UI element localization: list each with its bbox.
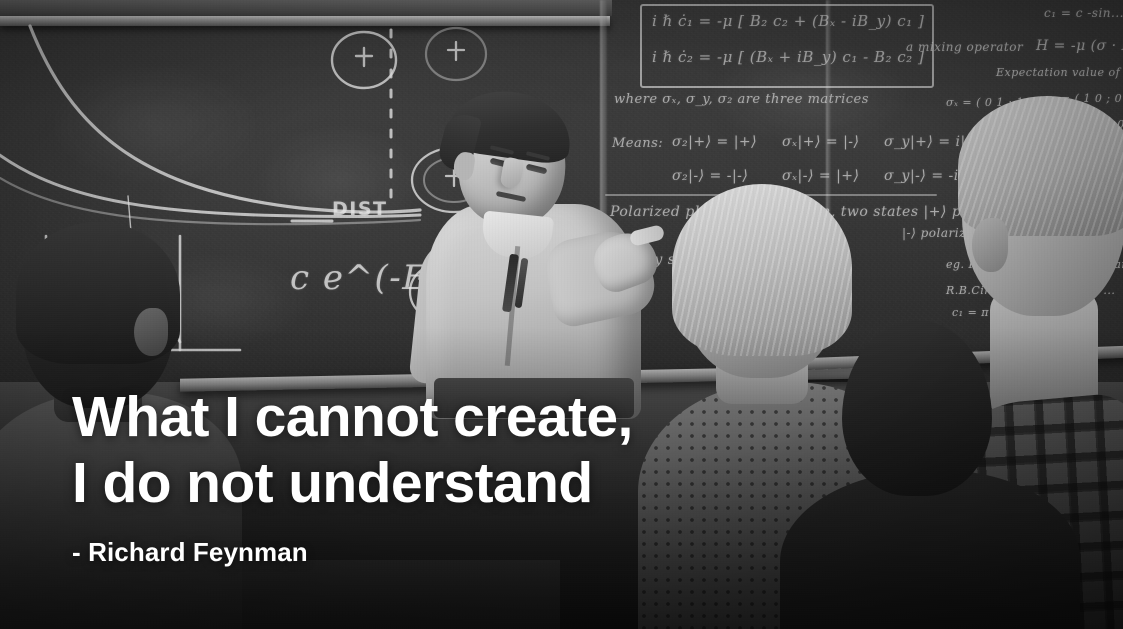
chalk-note-c1: c₁ = c -sin... — [1044, 6, 1123, 20]
student-foreground-right — [800, 320, 1050, 629]
quote-line-1: What I cannot create, — [72, 384, 772, 450]
quote-attribution: - Richard Feynman — [72, 536, 772, 568]
chalk-note-mixing-operator: a mixing operator — [906, 40, 1023, 54]
blackboard-rail-top — [0, 16, 610, 26]
chalk-note-braket-5: σₓ|-⟩ = |+⟩ — [782, 168, 859, 184]
chalk-equation-1: i ℏ ċ₁ = -μ [ B₂ c₂ + (Bₓ - iB_y) c₁ ] — [652, 12, 924, 30]
lecturer-feynman — [398, 86, 668, 416]
chalk-note-expectation: Expectation value of ⟨+|σ₂|+⟩ — [996, 66, 1123, 79]
student-ear — [134, 308, 168, 356]
chalk-equation-2: i ℏ ċ₂ = -μ [ (Bₓ + iB_y) c₁ - B₂ c₂ ] — [652, 48, 924, 66]
student-head — [842, 320, 992, 496]
quote-line-2: I do not understand — [72, 450, 772, 516]
quote-graphic: DIST c e^(-Eᵢ/kT) i ℏ ċ₁ = -μ [ B₂ c₂ + … — [0, 0, 1123, 629]
quote-overlay: What I cannot create, I do not understan… — [72, 384, 772, 568]
chalk-smudge — [40, 60, 270, 190]
blackboard-frame-top — [0, 0, 612, 16]
chalk-note-braket-4: σ₂|-⟩ = -|-⟩ — [672, 168, 748, 184]
chalk-note-braket-2: σₓ|+⟩ = |-⟩ — [782, 134, 859, 150]
quote-text: What I cannot create, I do not understan… — [72, 384, 772, 516]
chalk-note-braket-1: σ₂|+⟩ = |+⟩ — [672, 134, 757, 150]
student-hair — [958, 96, 1123, 236]
chalk-note-hamiltonian: H = -μ (σ · B) — [1036, 38, 1123, 54]
chalk-note-dist: DIST — [332, 198, 388, 220]
student-ear — [972, 218, 1008, 272]
